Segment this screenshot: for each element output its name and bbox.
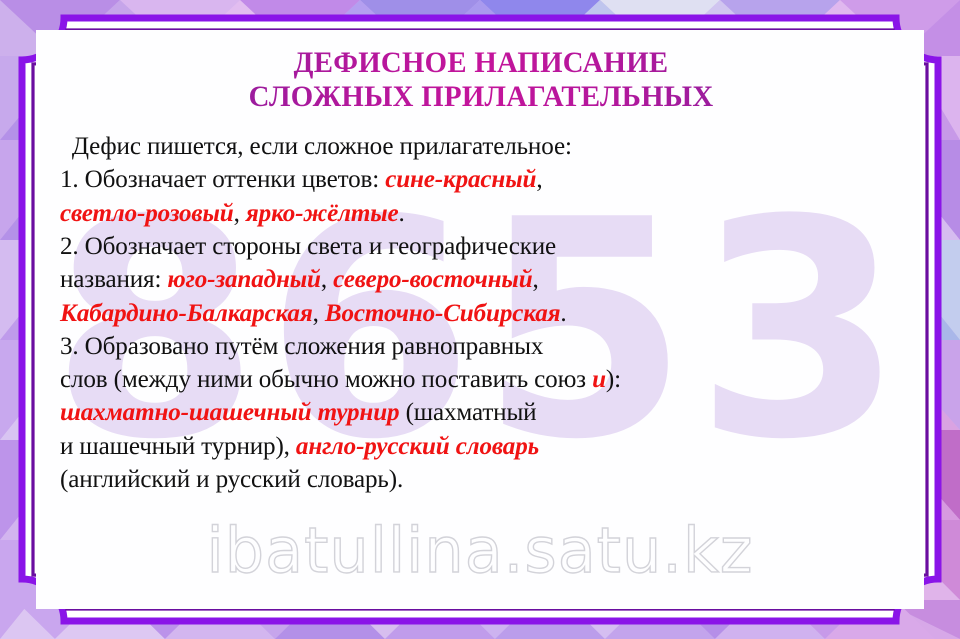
rule-2-example-3: Кабардино-Балкарская	[60, 298, 313, 327]
rule-2-line-1: 2. Обозначает стороны света и географиче…	[60, 229, 889, 262]
rule-3-line-2-tail: ):	[606, 364, 621, 393]
rule-3-line-4: и шашечный турнир), англо-русский словар…	[60, 429, 889, 462]
rule-2-sep-2: ,	[313, 298, 325, 327]
rule-3-line-2: слов (между ними обычно можно поставить …	[60, 362, 889, 395]
rule-2-example-2: северо-восточный	[333, 264, 532, 293]
rule-2-sep-1: ,	[321, 264, 333, 293]
rule-1-example-3: ярко-жёлтые	[246, 198, 399, 227]
title-line-2: СЛОЖНЫХ ПРИЛАГАТЕЛЬНЫХ	[77, 80, 885, 114]
rule-2-example-4: Восточно-Сибирская	[325, 298, 561, 327]
rule-3-gloss-1: (шахматный	[399, 397, 536, 426]
rule-3-line-1: 3. Образовано путём сложения равноправны…	[60, 329, 889, 362]
rule-2-line-2-tail: ,	[533, 264, 539, 293]
rules-body: Дефис пишется, если сложное прилагательн…	[60, 129, 889, 495]
rule-3-gloss-2: и шашечный турнир),	[60, 431, 296, 460]
watermark-domain: ibatullina.satu.kz	[207, 514, 754, 587]
rule-1-line-1: 1. Обозначает оттенки цветов: сине-красн…	[60, 162, 889, 195]
content-card: 8653 ibatullina.satu.kz ДЕФИСНОЕ НАПИСАН…	[36, 30, 924, 609]
rule-1-line-1-tail: ,	[536, 164, 542, 193]
page-title: ДЕФИСНОЕ НАПИСАНИЕ СЛОЖНЫХ ПРИЛАГАТЕЛЬНЫ…	[77, 46, 885, 113]
rule-2-line-3: Кабардино-Балкарская, Восточно-Сибирская…	[60, 296, 889, 329]
rule-3-lead: слов (между ними обычно можно поставить …	[60, 364, 592, 393]
rule-3-example-1: шахматно-шашечный турнир	[60, 397, 399, 426]
rule-2-example-1: юго-западный	[167, 264, 320, 293]
rule-1-example-1: сине-красный	[385, 164, 536, 193]
rule-1-example-2: светло-розовый	[60, 198, 234, 227]
rule-1-lead: 1. Обозначает оттенки цветов:	[60, 164, 385, 193]
rule-2-lead: названия:	[60, 264, 167, 293]
intro-line: Дефис пишется, если сложное прилагательн…	[60, 129, 889, 162]
rule-3-conjunction: и	[592, 364, 606, 393]
rule-3-line-5: (английский и русский словарь).	[60, 462, 889, 495]
rule-1-sep-1: ,	[234, 198, 246, 227]
poster-content: ДЕФИСНОЕ НАПИСАНИЕ СЛОЖНЫХ ПРИЛАГАТЕЛЬНЫ…	[36, 30, 924, 495]
rule-3-line-3: шахматно-шашечный турнир (шахматный	[60, 395, 889, 428]
rule-2-line-3-tail: .	[560, 298, 566, 327]
title-line-1: ДЕФИСНОЕ НАПИСАНИЕ	[77, 46, 885, 80]
rule-3-example-2: англо-русский словарь	[296, 431, 539, 460]
rule-1-line-2-tail: .	[399, 198, 405, 227]
rule-2-line-2: названия: юго-западный, северо-восточный…	[60, 262, 889, 295]
rule-1-line-2: светло-розовый, ярко-жёлтые.	[60, 196, 889, 229]
poster-root: 8653 ibatullina.satu.kz ДЕФИСНОЕ НАПИСАН…	[0, 0, 960, 639]
